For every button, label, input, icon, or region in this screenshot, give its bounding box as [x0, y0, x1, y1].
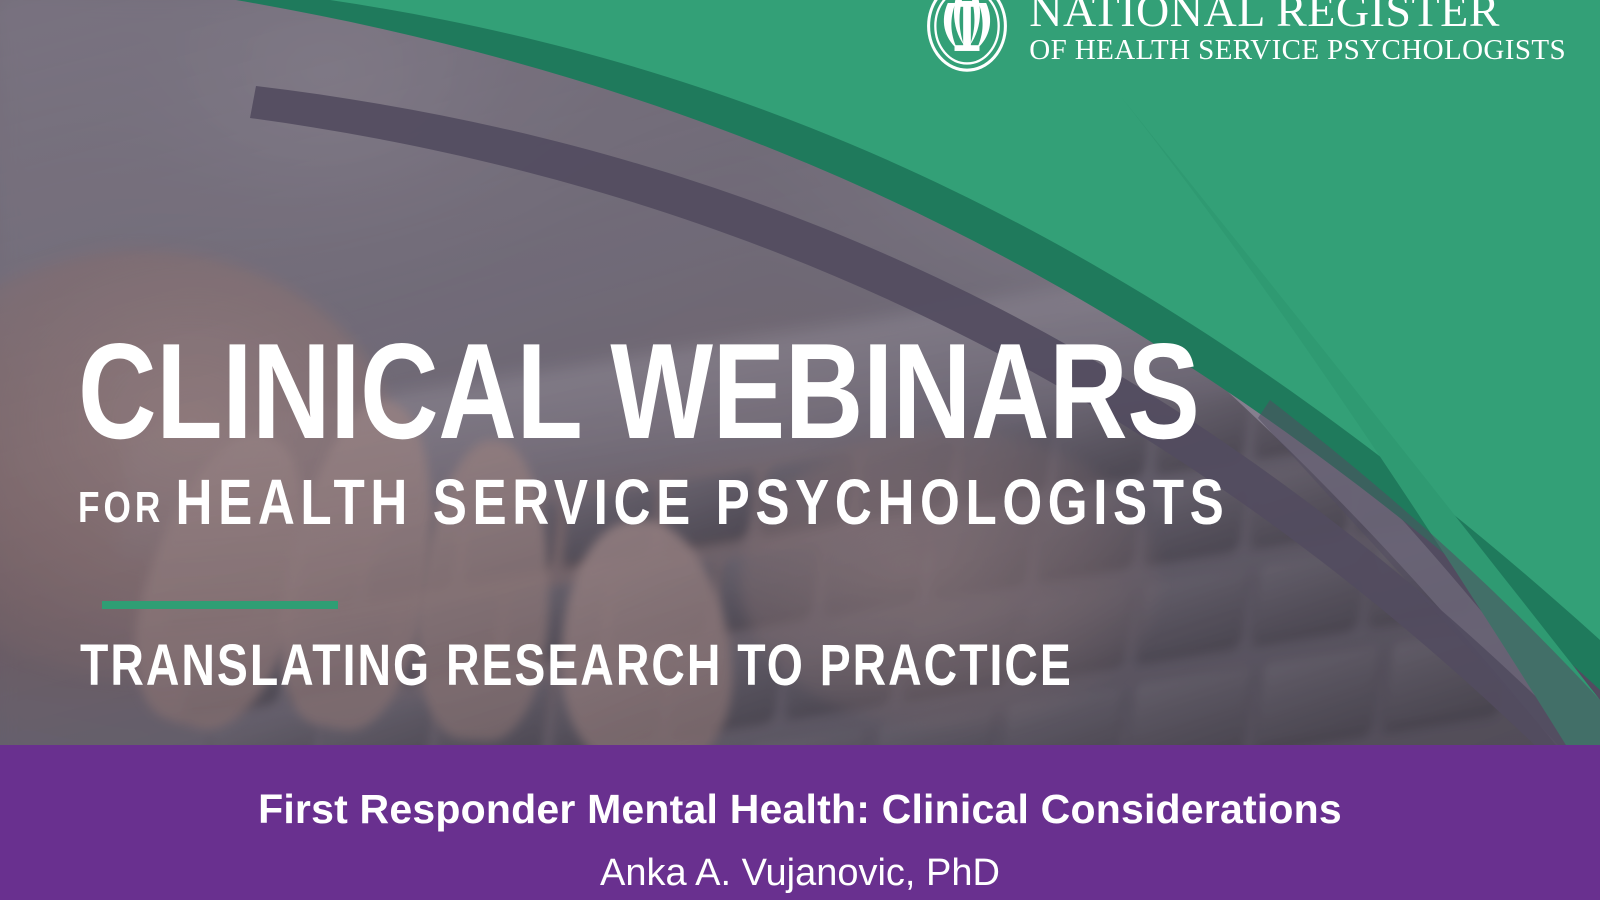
green-accent-rule [102, 601, 338, 609]
presentation-title: First Responder Mental Health: Clinical … [0, 745, 1600, 830]
national-register-emblem-icon [919, 0, 1015, 74]
logo-line-2: OF HEALTH SERVICE PSYCHOLOGISTS [1029, 36, 1566, 65]
logo-line-1: NATIONAL REGISTER [1029, 0, 1566, 34]
hero-subhead-main: HEALTH SERVICE PSYCHOLOGISTS [176, 466, 1230, 538]
footer-bar: First Responder Mental Health: Clinical … [0, 745, 1600, 900]
hero-subhead: FORHEALTH SERVICE PSYCHOLOGISTS [78, 470, 974, 534]
presenter-name: Anka A. Vujanovic, PhD [0, 830, 1600, 892]
logo-wordmark: NATIONAL REGISTER OF HEALTH SERVICE PSYC… [1029, 0, 1566, 65]
hero-text-block: CLINICAL WEBINARS FORHEALTH SERVICE PSYC… [78, 332, 1198, 534]
hero-tagline: TRANSLATING RESEARCH TO PRACTICE [80, 637, 1073, 695]
webinar-title-slide: NATIONAL REGISTER OF HEALTH SERVICE PSYC… [0, 0, 1600, 900]
hero-subhead-prefix: FOR [78, 483, 176, 532]
hero-headline: CLINICAL WEBINARS [78, 332, 974, 452]
national-register-logo: NATIONAL REGISTER OF HEALTH SERVICE PSYC… [919, 0, 1566, 74]
